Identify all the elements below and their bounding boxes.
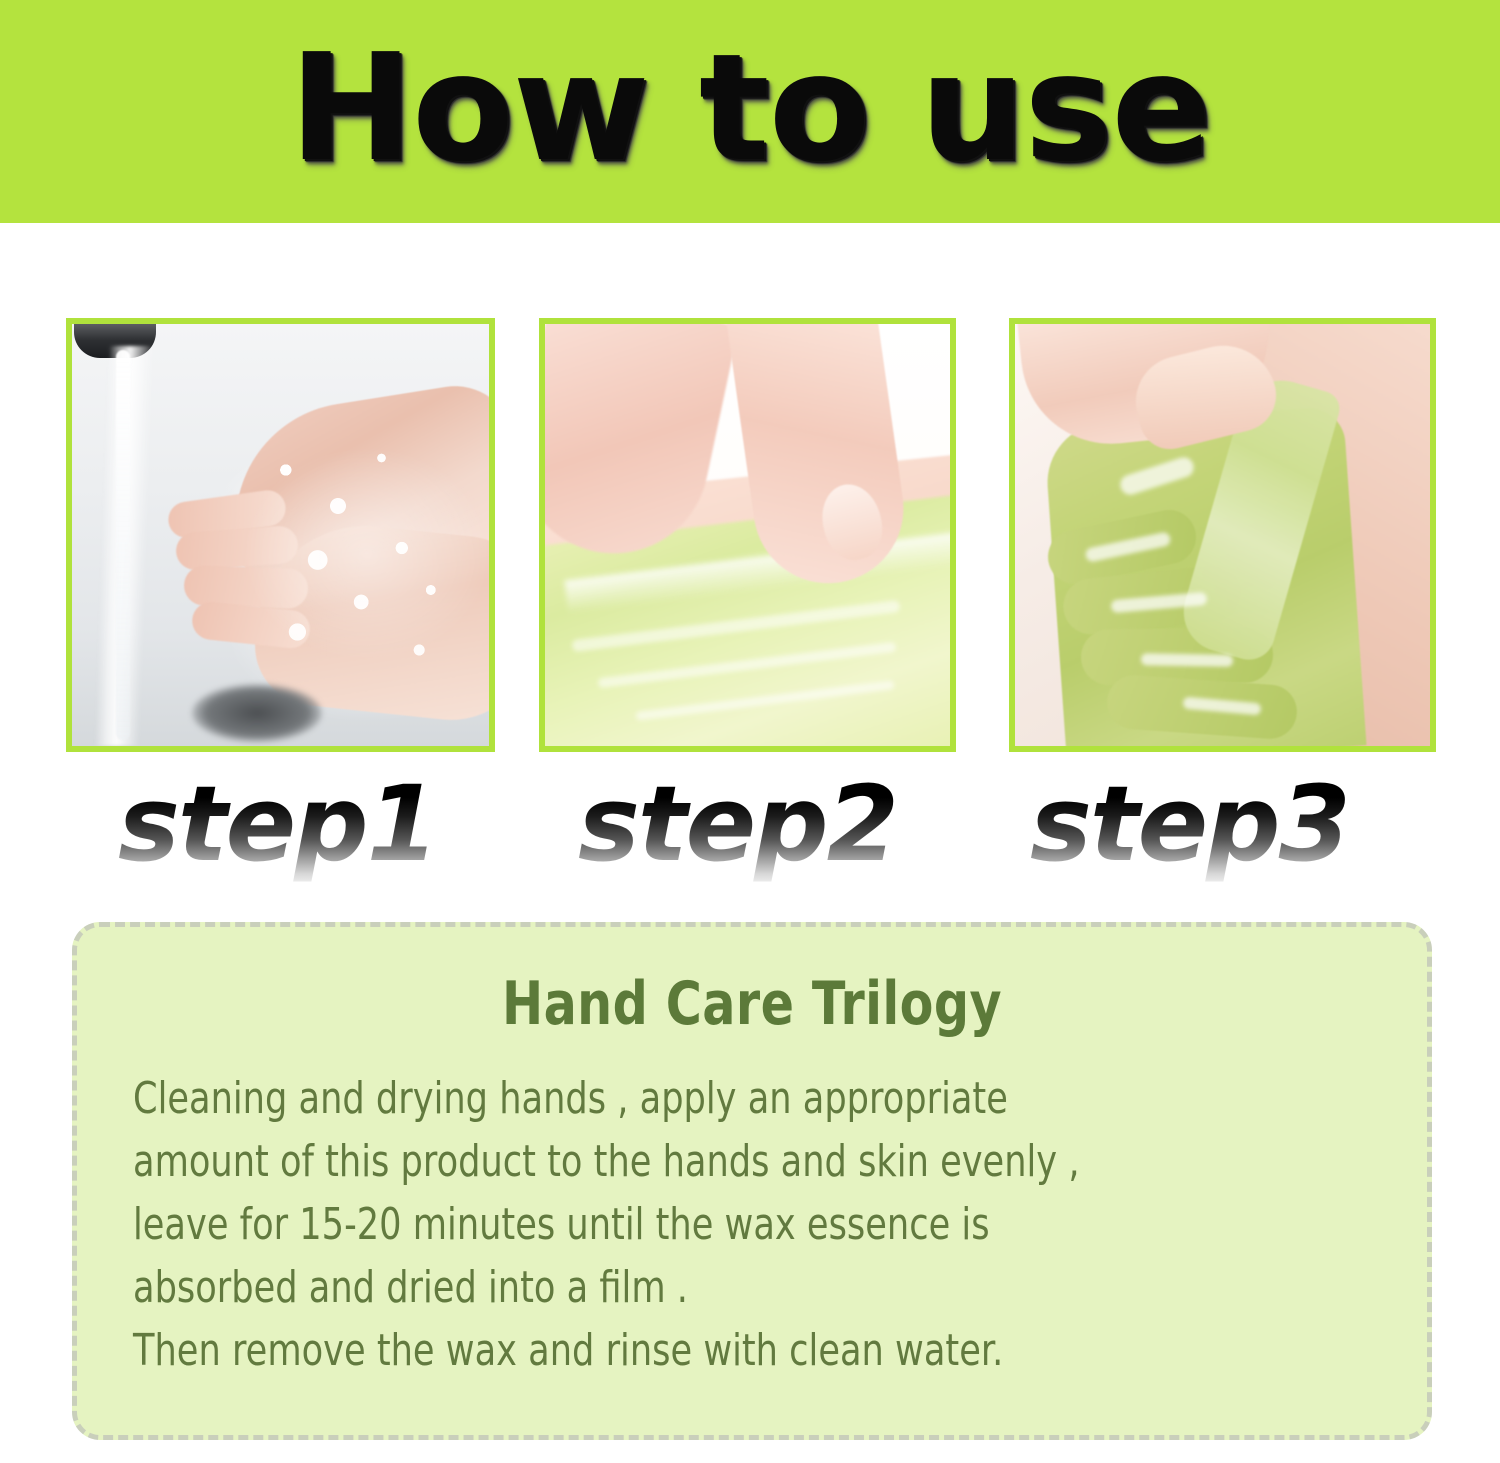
peeling-mask-image: [1015, 324, 1430, 746]
info-line: amount of this product to the hands and …: [133, 1130, 1371, 1193]
step3-label: step3: [1030, 758, 1349, 890]
info-line: Cleaning and drying hands , apply an app…: [133, 1067, 1371, 1130]
wax-gloss-shape: [1141, 653, 1233, 667]
steps-image-row: [0, 318, 1500, 758]
step-cell-2: [539, 318, 956, 752]
water-stream-core-shape: [116, 350, 130, 740]
header-banner: How to use: [0, 0, 1500, 223]
info-line: leave for 15-20 minutes until the wax es…: [133, 1193, 1371, 1256]
soap-foam-shape: [222, 404, 489, 704]
step3-photo-frame: [1009, 318, 1436, 752]
applying-cream-image: [545, 324, 950, 746]
step2-photo-frame: [539, 318, 956, 752]
info-line: absorbed and dried into a film .: [133, 1256, 1371, 1319]
step1-photo-frame: [66, 318, 495, 752]
step2-label: step2: [578, 758, 897, 890]
info-panel-body: Cleaning and drying hands , apply an app…: [133, 1067, 1371, 1382]
step1-label: step1: [118, 758, 437, 890]
step-cell-1: [66, 318, 495, 752]
step-cell-3: [1009, 318, 1436, 752]
step-labels-row: step1 step2 step3: [0, 758, 1500, 898]
info-line: Then remove the wax and rinse with clean…: [133, 1319, 1371, 1382]
info-panel: Hand Care Trilogy Cleaning and drying ha…: [72, 922, 1432, 1440]
hands-washing-image: [72, 324, 489, 746]
sink-drain-shape: [192, 684, 322, 742]
page-title: How to use: [0, 28, 1500, 188]
info-panel-title: Hand Care Trilogy: [244, 967, 1259, 1041]
